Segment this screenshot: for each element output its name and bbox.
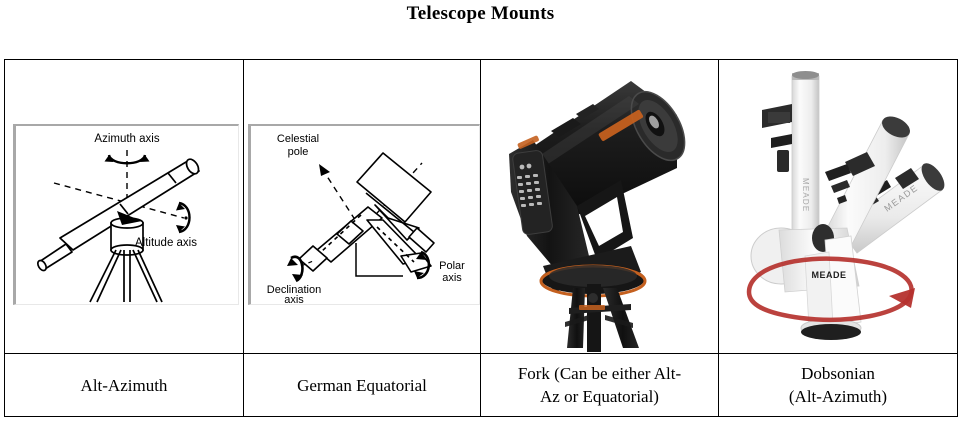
- caption-cell-dobsonian: Dobsonian (Alt-Azimuth): [719, 354, 958, 417]
- caption-german-equatorial: German Equatorial: [297, 376, 427, 395]
- fork-mount-photo-svg: [481, 60, 718, 353]
- ground-board-foot: [801, 324, 861, 340]
- aperture-vertical: [792, 71, 819, 79]
- altitude-axis-center-dot: [184, 216, 187, 219]
- table-row-figures: Azimuth axis: [5, 60, 958, 354]
- dobsonian-mount-telescope-photo: MEADE: [719, 60, 957, 353]
- caption-dobsonian-line1: Dobsonian: [801, 364, 875, 383]
- meade-base-logo: MEADE: [811, 270, 846, 280]
- azimuth-axis-label: Azimuth axis: [94, 133, 159, 145]
- tripod-center-knob: [588, 293, 598, 303]
- figure-wrapper-dobsonian: MEADE: [719, 60, 957, 353]
- focuser-barrel-vertical: [768, 112, 790, 123]
- page-title: Telescope Mounts: [0, 3, 961, 25]
- fork-mount-telescope-photo: [481, 60, 718, 353]
- azimuth-bearing-top: [549, 265, 637, 287]
- figure-cell-alt-azimuth: Azimuth axis: [5, 60, 244, 354]
- figure-cell-german-equatorial: Celestial pole: [244, 60, 481, 354]
- figure-wrapper-german-equatorial: Celestial pole: [244, 60, 480, 353]
- figure-cell-fork: [481, 60, 719, 354]
- declination-axis-label-line2: axis: [284, 294, 304, 304]
- german-equatorial-mount-diagram: Celestial pole: [248, 124, 480, 305]
- meade-tube-logo-vertical: MEADE: [801, 178, 810, 212]
- figure-wrapper-alt-azimuth: Azimuth axis: [5, 60, 243, 353]
- figure-wrapper-fork: [481, 60, 718, 353]
- finder-bracket-vertical: [777, 150, 789, 172]
- table-row-captions: Alt-Azimuth German Equatorial Fork (Can …: [5, 354, 958, 417]
- celestial-pole-label-line2: pole: [288, 146, 309, 158]
- celestial-pole-label-line1: Celestial: [277, 133, 319, 145]
- tripod-orange-accent: [579, 305, 605, 310]
- alt-azimuth-diagram-svg: Azimuth axis: [16, 126, 238, 304]
- figure-cell-dobsonian: MEADE: [719, 60, 958, 354]
- alt-azimuth-mount-diagram: Azimuth axis: [13, 124, 239, 305]
- polar-axis-label-line1: Polar: [439, 260, 465, 272]
- german-equatorial-diagram-svg: Celestial pole: [251, 126, 479, 304]
- page-root: Telescope Mounts Azimuth axis: [0, 0, 961, 423]
- polar-axis-label-line2: axis: [442, 272, 462, 284]
- caption-fork-line1: Fork (Can be either Alt-: [518, 364, 681, 383]
- altitude-axis-label: Altitude axis: [135, 237, 197, 249]
- telescope-mounts-table: Azimuth axis: [4, 59, 958, 417]
- rocker-side-panel: [805, 252, 833, 328]
- caption-dobsonian-line2: (Alt-Azimuth): [789, 387, 887, 406]
- caption-cell-german-equatorial: German Equatorial: [244, 354, 481, 417]
- caption-alt-azimuth: Alt-Azimuth: [81, 376, 168, 395]
- dobsonian-photo-svg: MEADE: [719, 60, 957, 353]
- caption-fork-line2: Az or Equatorial): [540, 387, 659, 406]
- caption-cell-alt-azimuth: Alt-Azimuth: [5, 354, 244, 417]
- caption-cell-fork: Fork (Can be either Alt- Az or Equatoria…: [481, 354, 719, 417]
